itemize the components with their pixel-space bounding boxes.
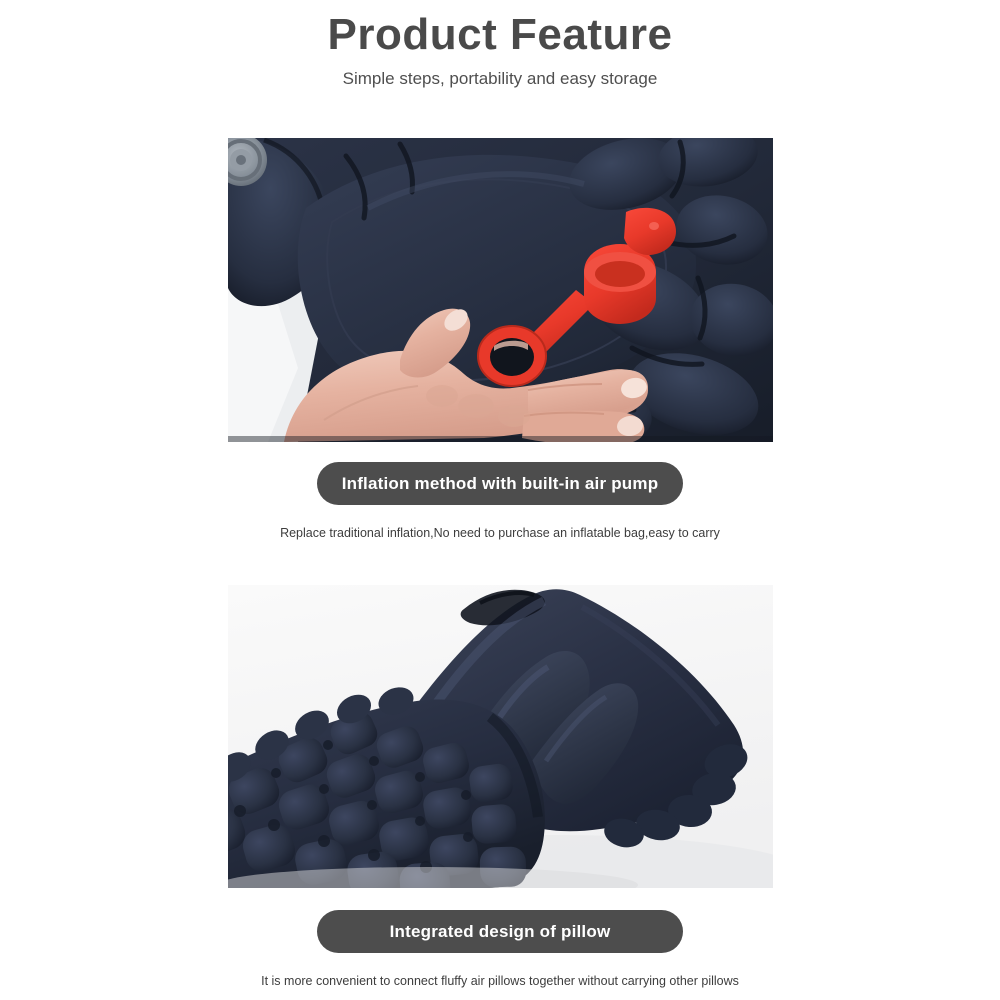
feature-pill-inflation[interactable]: Inflation method with built-in air pump — [317, 462, 683, 505]
feature-block-pillow: Integrated design of pillow It is more c… — [0, 585, 1000, 990]
integrated-pillow-illustration — [228, 585, 773, 888]
inflation-valve-illustration — [228, 138, 773, 442]
page-header: Product Feature Simple steps, portabilit… — [0, 0, 1000, 92]
pill-wrapper-pillow: Integrated design of pillow — [0, 910, 1000, 953]
page-subtitle: Simple steps, portability and easy stora… — [0, 66, 1000, 92]
feature-pill-pillow[interactable]: Integrated design of pillow — [317, 910, 683, 953]
integrated-pillow-photo — [228, 585, 773, 888]
inflation-valve-photo — [228, 138, 773, 442]
product-feature-page: Product Feature Simple steps, portabilit… — [0, 0, 1000, 1000]
feature-description-inflation: Replace traditional inflation,No need to… — [0, 524, 1000, 542]
page-title: Product Feature — [0, 8, 1000, 62]
feature-block-inflation: Inflation method with built-in air pump … — [0, 138, 1000, 542]
feature-description-pillow: It is more convenient to connect fluffy … — [0, 972, 1000, 990]
pill-wrapper-inflation: Inflation method with built-in air pump — [0, 462, 1000, 505]
